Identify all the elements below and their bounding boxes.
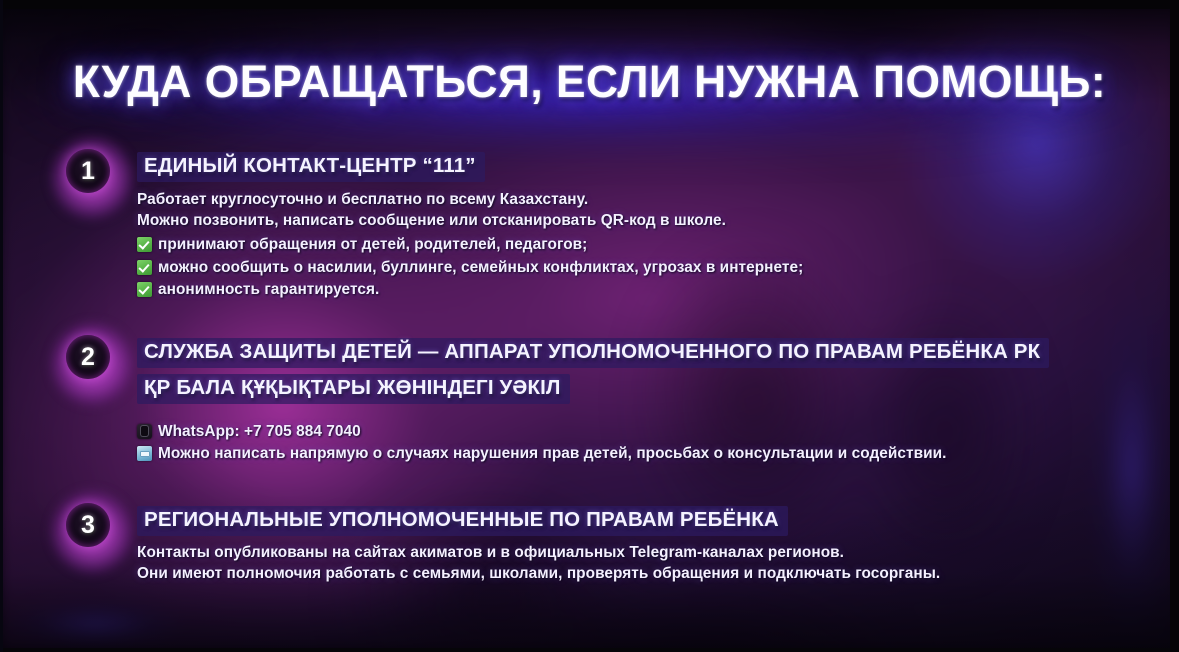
section-1-bullet-1: принимают обращения от детей, родителей,… — [158, 234, 587, 255]
section-2-whatsapp: WhatsApp: +7 705 884 7040 — [158, 421, 361, 442]
check-icon — [137, 282, 152, 297]
check-icon — [137, 237, 152, 252]
section-1-body: ЕДИНЫЙ КОНТАКТ-ЦЕНТР “111” Работает круг… — [137, 152, 1137, 300]
section-1-number: 1 — [81, 159, 95, 184]
section-2-header: СЛУЖБА ЗАЩИТЫ ДЕТЕЙ — АППАРАТ УПОЛНОМОЧЕ… — [137, 338, 1049, 368]
section-2-telegram-note: Можно написать напрямую о случаях наруше… — [158, 443, 946, 464]
section-2-body: СЛУЖБА ЗАЩИТЫ ДЕТЕЙ — АППАРАТ УПОЛНОМОЧЕ… — [137, 338, 1137, 464]
telegram-icon — [137, 446, 152, 461]
list-item: анонимность гарантируется. — [137, 279, 1137, 300]
slide-stage: КУДА ОБРАЩАТЬСЯ, ЕСЛИ НУЖНА ПОМОЩЬ: 1 ЕД… — [0, 0, 1179, 652]
section-3-body: РЕГИОНАЛЬНЫЕ УПОЛНОМОЧЕННЫЕ ПО ПРАВАМ РЕ… — [137, 506, 1137, 585]
section-2-badge: 2 — [62, 338, 122, 394]
section-3-paragraph-1: Контакты опубликованы на сайтах акиматов… — [137, 543, 1137, 564]
number-badge-icon: 3 — [66, 503, 110, 547]
section-1-bullets: принимают обращения от детей, родителей,… — [137, 234, 1137, 300]
section-1-bullet-3: анонимность гарантируется. — [158, 279, 379, 300]
letterbox-left — [0, 0, 3, 652]
section-2-contacts: WhatsApp: +7 705 884 7040 Можно написать… — [137, 421, 1137, 465]
section-1-paragraph-1: Работает круглосуточно и бесплатно по вс… — [137, 189, 1137, 210]
number-badge-icon: 1 — [66, 149, 110, 193]
section-2-header-kazakh: ҚР БАЛА ҚҰҚЫҚТАРЫ ЖӨНІНДЕГІ УӘКІЛ — [137, 374, 570, 404]
section-3-header: РЕГИОНАЛЬНЫЕ УПОЛНОМОЧЕННЫЕ ПО ПРАВАМ РЕ… — [137, 506, 788, 536]
letterbox-top — [0, 0, 1179, 9]
letterbox-right — [1170, 0, 1179, 652]
section-3-badge: 3 — [62, 506, 122, 562]
section-3-paragraph-2: Они имеют полномочия работать с семьями,… — [137, 564, 1137, 585]
slide-content: КУДА ОБРАЩАТЬСЯ, ЕСЛИ НУЖНА ПОМОЩЬ: 1 ЕД… — [0, 0, 1179, 652]
number-badge-icon: 2 — [66, 335, 110, 379]
section-1-bullet-2: можно сообщить о насилии, буллинге, семе… — [158, 257, 803, 278]
list-item: Можно написать напрямую о случаях наруше… — [137, 443, 1137, 464]
section-1-badge: 1 — [62, 152, 122, 208]
list-item: можно сообщить о насилии, буллинге, семе… — [137, 257, 1137, 278]
list-item: принимают обращения от детей, родителей,… — [137, 234, 1137, 255]
check-icon — [137, 260, 152, 275]
list-item: WhatsApp: +7 705 884 7040 — [137, 421, 1137, 442]
page-title: КУДА ОБРАЩАТЬСЯ, ЕСЛИ НУЖНА ПОМОЩЬ: — [9, 56, 1170, 108]
section-1-paragraph-2: Можно позвонить, написать сообщение или … — [137, 210, 1137, 231]
section-1-paragraphs: Работает круглосуточно и бесплатно по вс… — [137, 189, 1137, 232]
whatsapp-icon — [137, 424, 152, 439]
section-3-number: 3 — [81, 513, 95, 538]
section-1-header: ЕДИНЫЙ КОНТАКТ-ЦЕНТР “111” — [137, 152, 485, 182]
letterbox-bottom — [0, 648, 1179, 652]
section-2-number: 2 — [81, 345, 95, 370]
section-3-paragraphs: Контакты опубликованы на сайтах акиматов… — [137, 543, 1137, 585]
